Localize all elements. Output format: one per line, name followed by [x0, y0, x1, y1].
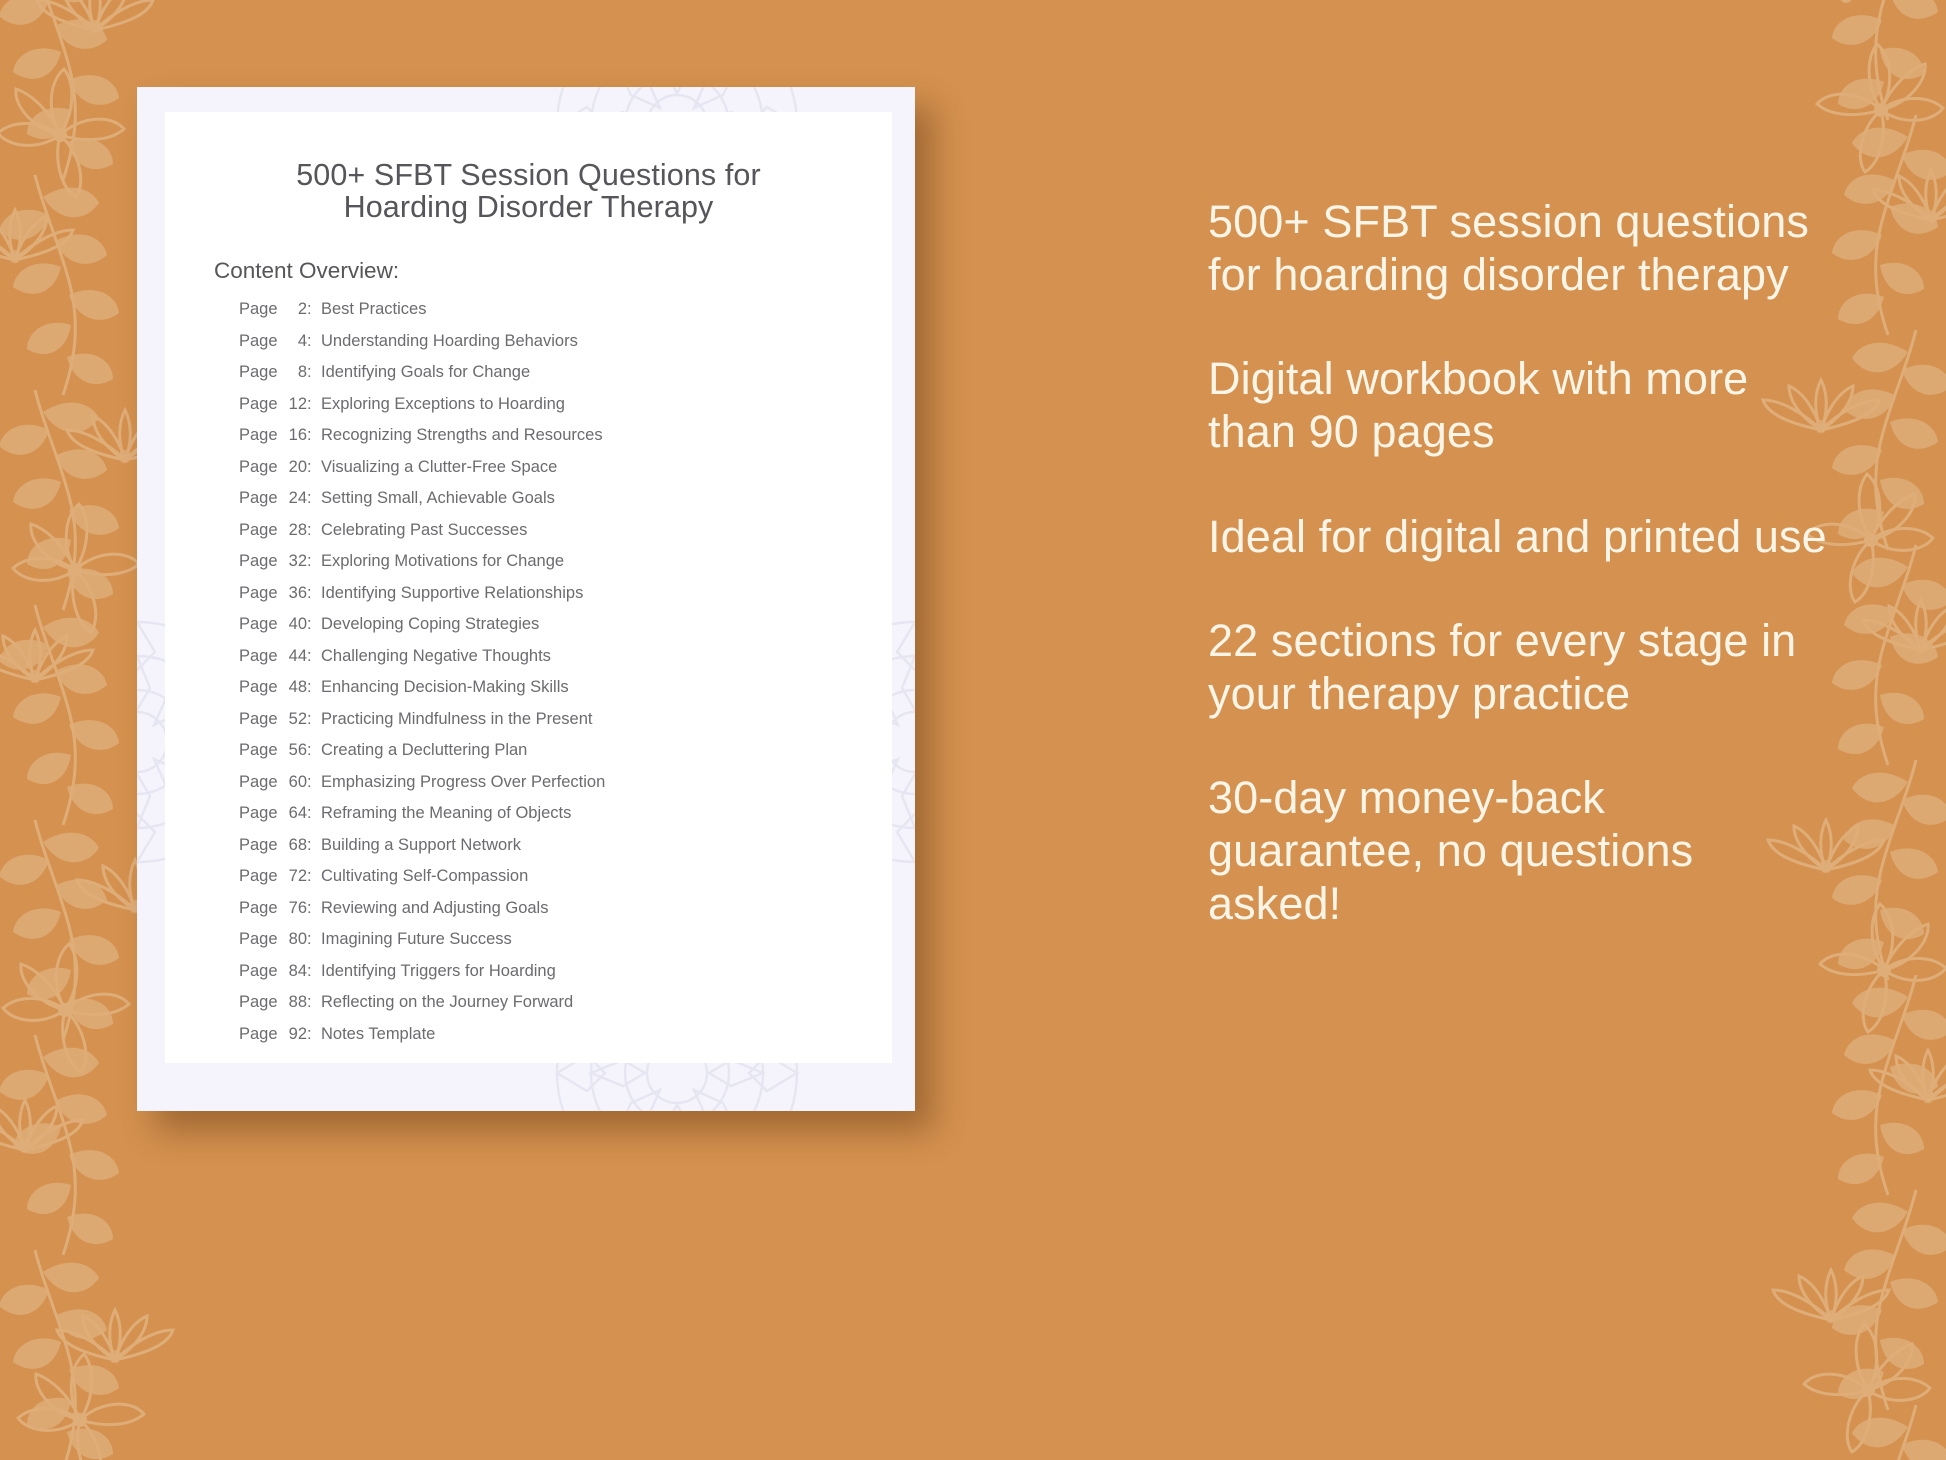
toc-entry-title: Identifying Goals for Change: [321, 363, 530, 382]
toc-entry-colon: :: [307, 678, 321, 697]
toc-entry-title: Exploring Motivations for Change: [321, 552, 564, 571]
toc-entry-page-number: 88: [277, 993, 307, 1012]
toc-entry-colon: :: [307, 867, 321, 886]
table-of-contents: Page2:Best PracticesPage4:Understanding …: [239, 300, 872, 1056]
toc-entry-title: Identifying Triggers for Hoarding: [321, 962, 556, 981]
toc-entry-page-word: Page: [239, 395, 277, 414]
toc-entry-page-number: 12: [277, 395, 307, 414]
toc-entry-page-number: 80: [277, 930, 307, 949]
toc-entry-title: Emphasizing Progress Over Perfection: [321, 773, 605, 792]
toc-entry-page-number: 68: [277, 836, 307, 855]
marketing-point: Ideal for digital and printed use: [1208, 511, 1828, 564]
toc-entry-colon: :: [307, 584, 321, 603]
toc-entry-page-number: 8: [277, 363, 307, 382]
toc-entry-page-word: Page: [239, 489, 277, 508]
toc-entry-colon: :: [307, 521, 321, 540]
toc-entry-page-number: 2: [277, 300, 307, 319]
toc-entry-page-word: Page: [239, 836, 277, 855]
toc-entry-colon: :: [307, 993, 321, 1012]
marketing-points: 500+ SFBT session questions for hoarding…: [1208, 196, 1828, 930]
toc-entry-colon: :: [307, 426, 321, 445]
marketing-point: 22 sections for every stage in your ther…: [1208, 615, 1828, 720]
document-preview-card[interactable]: 500+ SFBT Session Questions for Hoarding…: [137, 87, 915, 1111]
toc-entry: Page28:Celebrating Past Successes: [239, 521, 872, 553]
toc-entry-title: Reflecting on the Journey Forward: [321, 993, 573, 1012]
toc-entry: Page48:Enhancing Decision-Making Skills: [239, 678, 872, 710]
toc-entry-colon: :: [307, 804, 321, 823]
toc-entry-page-word: Page: [239, 363, 277, 382]
toc-entry-title: Reframing the Meaning of Objects: [321, 804, 571, 823]
toc-entry-page-word: Page: [239, 773, 277, 792]
toc-entry-page-word: Page: [239, 710, 277, 729]
toc-entry-page-word: Page: [239, 584, 277, 603]
toc-entry: Page16:Recognizing Strengths and Resourc…: [239, 426, 872, 458]
toc-entry-title: Recognizing Strengths and Resources: [321, 426, 603, 445]
toc-entry-page-number: 16: [277, 426, 307, 445]
toc-entry-page-word: Page: [239, 962, 277, 981]
toc-entry-page-number: 92: [277, 1025, 307, 1044]
toc-entry-page-number: 40: [277, 615, 307, 634]
toc-entry-colon: :: [307, 647, 321, 666]
toc-entry-title: Imagining Future Success: [321, 930, 512, 949]
toc-entry-title: Visualizing a Clutter-Free Space: [321, 458, 557, 477]
toc-entry: Page56:Creating a Decluttering Plan: [239, 741, 872, 773]
toc-entry: Page20:Visualizing a Clutter-Free Space: [239, 458, 872, 490]
toc-entry-title: Identifying Supportive Relationships: [321, 584, 583, 603]
document-title-line-2: Hoarding Disorder Therapy: [205, 191, 852, 223]
toc-entry: Page40:Developing Coping Strategies: [239, 615, 872, 647]
toc-entry: Page24:Setting Small, Achievable Goals: [239, 489, 872, 521]
toc-entry: Page36:Identifying Supportive Relationsh…: [239, 584, 872, 616]
toc-entry: Page32:Exploring Motivations for Change: [239, 552, 872, 584]
toc-entry-page-word: Page: [239, 867, 277, 886]
toc-entry-colon: :: [307, 395, 321, 414]
toc-entry-page-number: 76: [277, 899, 307, 918]
toc-entry-title: Developing Coping Strategies: [321, 615, 539, 634]
toc-entry-page-word: Page: [239, 678, 277, 697]
toc-entry: Page80:Imagining Future Success: [239, 930, 872, 962]
toc-entry-colon: :: [307, 899, 321, 918]
toc-entry-page-number: 36: [277, 584, 307, 603]
marketing-point: Digital workbook with more than 90 pages: [1208, 353, 1828, 458]
toc-entry-page-word: Page: [239, 458, 277, 477]
toc-entry-title: Exploring Exceptions to Hoarding: [321, 395, 565, 414]
toc-entry-colon: :: [307, 930, 321, 949]
toc-entry-page-number: 64: [277, 804, 307, 823]
toc-entry-page-number: 28: [277, 521, 307, 540]
toc-entry-page-word: Page: [239, 899, 277, 918]
toc-entry: Page84:Identifying Triggers for Hoarding: [239, 962, 872, 994]
toc-entry-page-word: Page: [239, 615, 277, 634]
toc-entry-page-number: 56: [277, 741, 307, 760]
toc-entry: Page68:Building a Support Network: [239, 836, 872, 868]
toc-entry: Page44:Challenging Negative Thoughts: [239, 647, 872, 679]
toc-entry-page-number: 44: [277, 647, 307, 666]
toc-entry: Page64:Reframing the Meaning of Objects: [239, 804, 872, 836]
toc-entry-page-word: Page: [239, 804, 277, 823]
toc-entry-page-word: Page: [239, 741, 277, 760]
toc-entry-colon: :: [307, 836, 321, 855]
toc-entry: Page92:Notes Template: [239, 1025, 872, 1057]
toc-entry: Page12:Exploring Exceptions to Hoarding: [239, 395, 872, 427]
marketing-point: 30-day money-back guarantee, no question…: [1208, 772, 1828, 930]
toc-entry-page-word: Page: [239, 300, 277, 319]
toc-entry: Page8:Identifying Goals for Change: [239, 363, 872, 395]
toc-entry-title: Enhancing Decision-Making Skills: [321, 678, 569, 697]
toc-entry-colon: :: [307, 1025, 321, 1044]
toc-entry: Page4:Understanding Hoarding Behaviors: [239, 332, 872, 364]
toc-entry: Page76:Reviewing and Adjusting Goals: [239, 899, 872, 931]
toc-entry-colon: :: [307, 300, 321, 319]
toc-entry-page-word: Page: [239, 552, 277, 571]
toc-entry: Page60:Emphasizing Progress Over Perfect…: [239, 773, 872, 805]
toc-entry-page-number: 32: [277, 552, 307, 571]
toc-entry-title: Best Practices: [321, 300, 426, 319]
toc-entry-page-word: Page: [239, 521, 277, 540]
toc-entry-page-word: Page: [239, 647, 277, 666]
toc-entry-colon: :: [307, 363, 321, 382]
promo-graphic: 500+ SFBT Session Questions for Hoarding…: [0, 0, 1946, 1460]
toc-entry: Page52:Practicing Mindfulness in the Pre…: [239, 710, 872, 742]
toc-entry-colon: :: [307, 332, 321, 351]
marketing-point: 500+ SFBT session questions for hoarding…: [1208, 196, 1828, 301]
toc-entry-page-word: Page: [239, 1025, 277, 1044]
toc-entry: Page72:Cultivating Self-Compassion: [239, 867, 872, 899]
toc-entry-colon: :: [307, 773, 321, 792]
toc-entry-title: Notes Template: [321, 1025, 435, 1044]
toc-entry-page-word: Page: [239, 426, 277, 445]
toc-entry-colon: :: [307, 552, 321, 571]
document-page: 500+ SFBT Session Questions for Hoarding…: [165, 112, 892, 1063]
toc-entry-title: Understanding Hoarding Behaviors: [321, 332, 578, 351]
toc-entry-colon: :: [307, 615, 321, 634]
toc-entry-title: Building a Support Network: [321, 836, 521, 855]
toc-entry-colon: :: [307, 489, 321, 508]
toc-entry-title: Challenging Negative Thoughts: [321, 647, 551, 666]
toc-entry-title: Celebrating Past Successes: [321, 521, 527, 540]
toc-entry-page-word: Page: [239, 930, 277, 949]
toc-entry-page-number: 24: [277, 489, 307, 508]
toc-entry-title: Cultivating Self-Compassion: [321, 867, 528, 886]
toc-entry-title: Practicing Mindfulness in the Present: [321, 710, 592, 729]
toc-entry: Page2:Best Practices: [239, 300, 872, 332]
toc-entry-page-number: 20: [277, 458, 307, 477]
toc-entry-title: Creating a Decluttering Plan: [321, 741, 527, 760]
toc-entry-colon: :: [307, 458, 321, 477]
toc-entry-page-number: 4: [277, 332, 307, 351]
document-title: 500+ SFBT Session Questions for Hoarding…: [165, 159, 892, 223]
document-title-line-1: 500+ SFBT Session Questions for: [205, 159, 852, 191]
content-overview-label: Content Overview:: [214, 258, 399, 284]
toc-entry-colon: :: [307, 962, 321, 981]
toc-entry-colon: :: [307, 741, 321, 760]
toc-entry-page-number: 48: [277, 678, 307, 697]
toc-entry-page-word: Page: [239, 993, 277, 1012]
toc-entry-title: Setting Small, Achievable Goals: [321, 489, 555, 508]
toc-entry-title: Reviewing and Adjusting Goals: [321, 899, 548, 918]
toc-entry-page-word: Page: [239, 332, 277, 351]
toc-entry-page-number: 60: [277, 773, 307, 792]
toc-entry-page-number: 84: [277, 962, 307, 981]
toc-entry-colon: :: [307, 710, 321, 729]
toc-entry-page-number: 72: [277, 867, 307, 886]
toc-entry: Page88:Reflecting on the Journey Forward: [239, 993, 872, 1025]
toc-entry-page-number: 52: [277, 710, 307, 729]
